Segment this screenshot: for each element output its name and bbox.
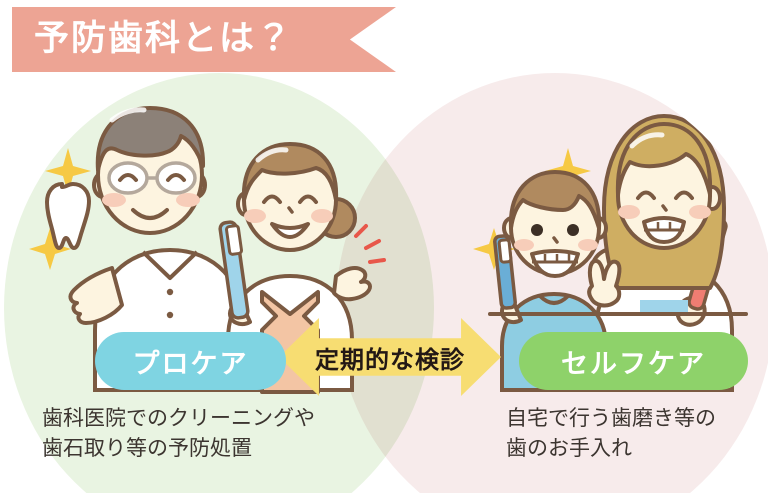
self-care-label: セルフケア	[561, 342, 706, 381]
infographic-root: 予防歯科とは？ 定期的な検診 プロケア セルフケア 歯科医院でのクリーニングや …	[0, 0, 768, 493]
pro-care-caption-line-2: 歯石取り等の予防処置	[42, 433, 315, 463]
self-care-caption-line-1: 自宅で行う歯磨き等の	[506, 403, 716, 433]
page-title: 予防歯科とは？	[34, 22, 293, 57]
pro-care-caption-line-1: 歯科医院でのクリーニングや	[42, 403, 315, 433]
pro-care-label: プロケア	[133, 342, 249, 381]
pro-care-pill[interactable]: プロケア	[95, 332, 286, 390]
self-care-caption-line-2: 歯のお手入れ	[506, 433, 716, 463]
arrow-label: 定期的な検診	[279, 318, 501, 396]
title-ribbon: 予防歯科とは？	[12, 7, 396, 72]
pro-care-caption: 歯科医院でのクリーニングや 歯石取り等の予防処置	[42, 403, 315, 464]
self-care-caption: 自宅で行う歯磨き等の 歯のお手入れ	[506, 403, 716, 464]
self-care-pill[interactable]: セルフケア	[519, 332, 748, 390]
